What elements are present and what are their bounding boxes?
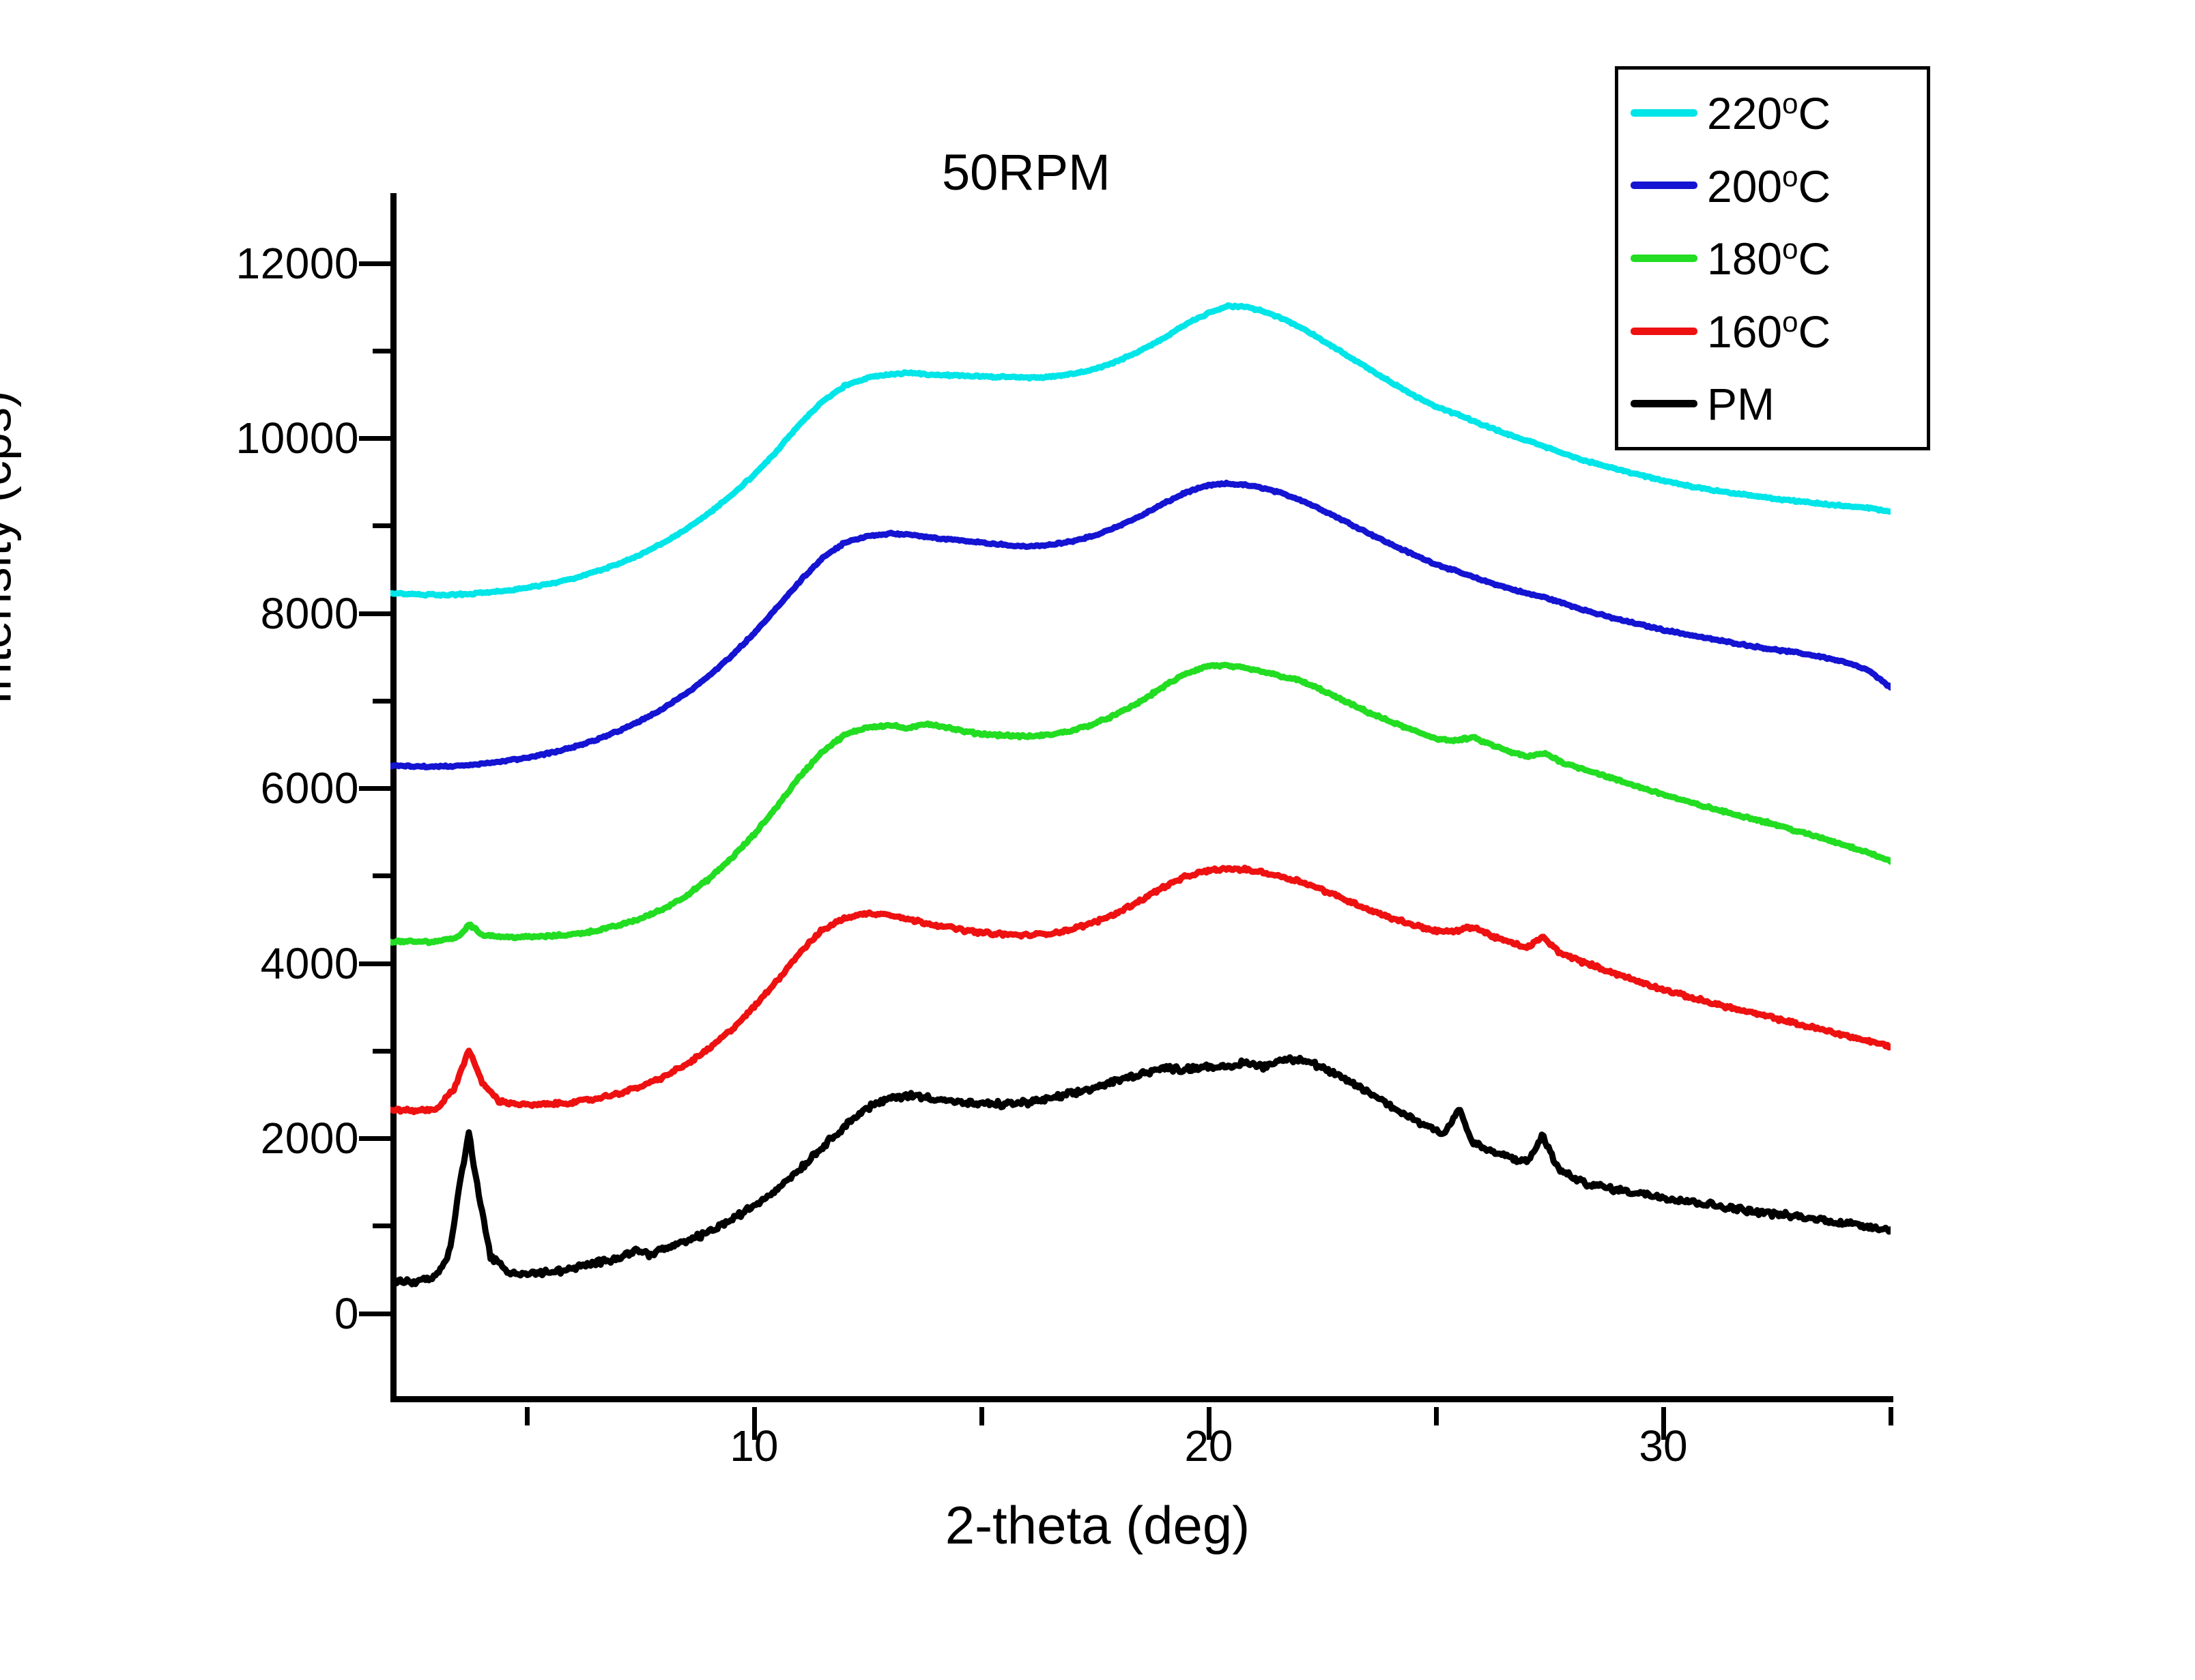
y-tick-label: 2000: [261, 1113, 359, 1163]
y-tick-label: 10000: [236, 413, 359, 463]
legend-label: 160oC: [1707, 308, 1831, 354]
legend-swatch-icon: [1631, 328, 1697, 335]
y-tick-major: [359, 1312, 390, 1316]
legend-label: 180oC: [1707, 235, 1831, 281]
legend-swatch-icon: [1631, 400, 1697, 407]
x-tick-minor: [979, 1407, 984, 1425]
y-tick-major: [359, 436, 390, 441]
y-tick-major: [359, 1136, 390, 1141]
legend-box[interactable]: 220oC200oC180oC160oCPM: [1615, 66, 1930, 450]
y-tick-major: [359, 261, 390, 266]
legend-swatch-icon: [1631, 109, 1697, 117]
x-tick-minor: [1889, 1407, 1893, 1425]
y-tick-minor: [373, 873, 390, 878]
y-tick-minor: [373, 699, 390, 704]
y-tick-minor: [373, 349, 390, 353]
legend-swatch-icon: [1631, 255, 1697, 262]
x-tick-minor: [525, 1407, 530, 1425]
legend-item-220c[interactable]: 220oC: [1618, 81, 1927, 144]
y-tick-major: [359, 611, 390, 616]
legend-item-160c[interactable]: 160oC: [1618, 300, 1927, 362]
y-tick-label: 4000: [261, 938, 359, 989]
legend-item-200c[interactable]: 200oC: [1618, 154, 1927, 217]
y-tick-minor: [373, 1049, 390, 1054]
legend-label: 220oC: [1707, 89, 1831, 136]
y-tick-label: 12000: [236, 238, 359, 289]
y-tick-labels: 020004000600080001000012000: [0, 0, 359, 1680]
y-tick-major: [359, 961, 390, 966]
y-tick-label: 6000: [261, 763, 359, 813]
x-tick-minor: [1434, 1407, 1439, 1425]
y-tick-minor: [373, 1223, 390, 1228]
y-tick-minor: [373, 523, 390, 528]
legend-label: PM: [1707, 381, 1775, 426]
curve-200C: [390, 483, 1891, 768]
xrd-figure: 50RPM Intensity (cps) 2-theta (deg) 0200…: [0, 0, 2195, 1680]
legend-item-pm[interactable]: PM: [1618, 373, 1927, 435]
y-tick-label: 0: [334, 1288, 359, 1339]
y-tick-major: [359, 786, 390, 791]
legend-label: 200oC: [1707, 162, 1831, 209]
y-tick-label: 8000: [261, 588, 359, 639]
legend-swatch-icon: [1631, 182, 1697, 189]
x-tick-label: 10: [730, 1421, 778, 1471]
x-tick-label: 20: [1184, 1421, 1233, 1471]
x-tick-label: 30: [1639, 1421, 1687, 1471]
legend-item-180c[interactable]: 180oC: [1618, 227, 1927, 289]
